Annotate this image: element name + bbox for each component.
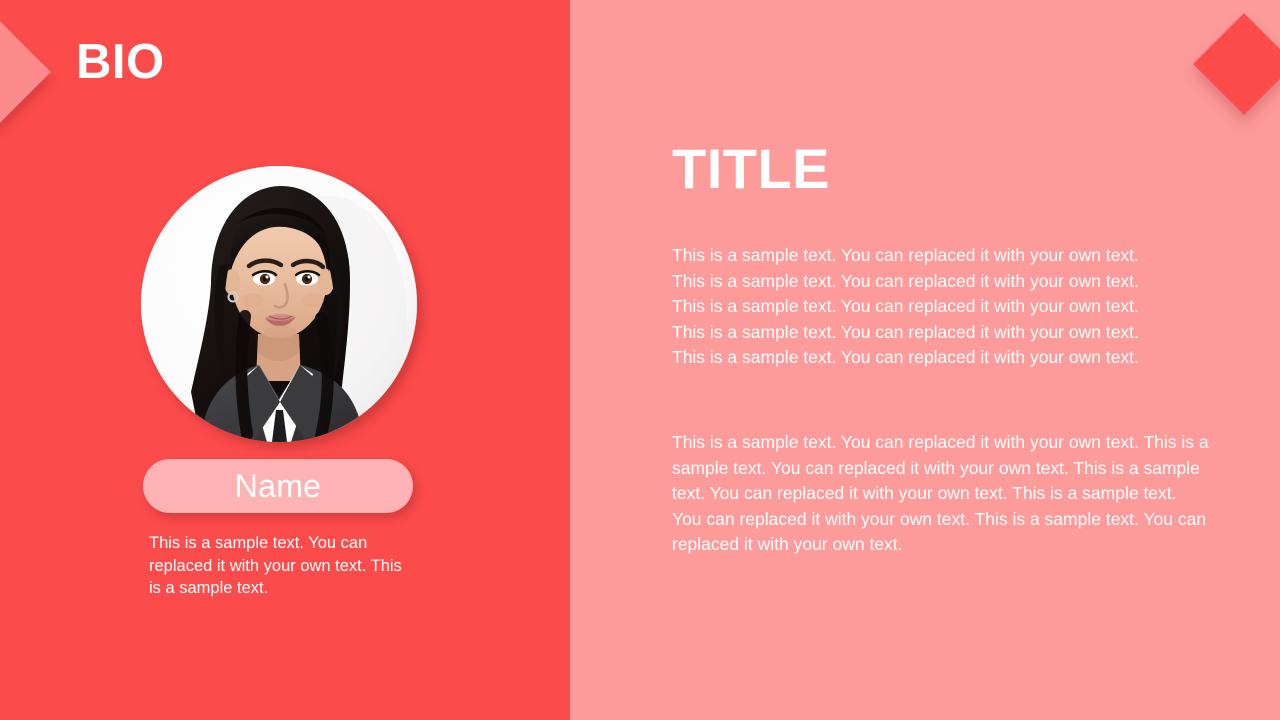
slide-canvas: BIO <box>0 0 1280 720</box>
name-badge-label: Name <box>235 470 322 502</box>
bio-heading: BIO <box>76 38 165 87</box>
avatar-circle <box>141 166 417 442</box>
body-paragraph-2: This is a sample text. You can replaced … <box>672 430 1209 558</box>
body-paragraph-1: This is a sample text. You can replaced … <box>672 243 1164 371</box>
page-title: TITLE <box>672 141 830 197</box>
avatar <box>141 166 417 442</box>
portrait-photo-icon <box>141 166 417 442</box>
bio-caption-text: This is a sample text. You can replaced … <box>149 532 411 600</box>
name-badge[interactable]: Name <box>143 459 413 513</box>
